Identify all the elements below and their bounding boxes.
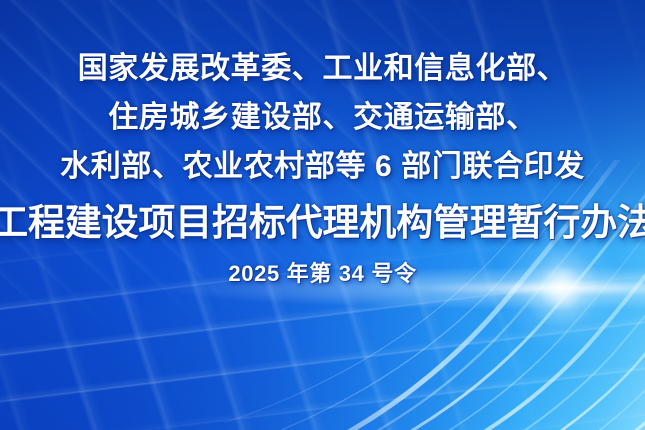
decree-number: 2025 年第 34 号令 — [228, 260, 416, 288]
headline-line-1: 国家发展改革委、工业和信息化部、 — [78, 50, 568, 88]
headline-line-3: 水利部、农业农村部等 6 部门联合印发 — [60, 148, 585, 186]
headline-line-2: 住房城乡建设部、交通运输部、 — [108, 99, 536, 137]
document-title: 《工程建设项目招标代理机构管理暂行办法》 — [0, 200, 645, 246]
banner-content: 国家发展改革委、工业和信息化部、 住房城乡建设部、交通运输部、 水利部、农业农村… — [0, 0, 645, 430]
banner-graphic: 国家发展改革委、工业和信息化部、 住房城乡建设部、交通运输部、 水利部、农业农村… — [0, 0, 645, 430]
